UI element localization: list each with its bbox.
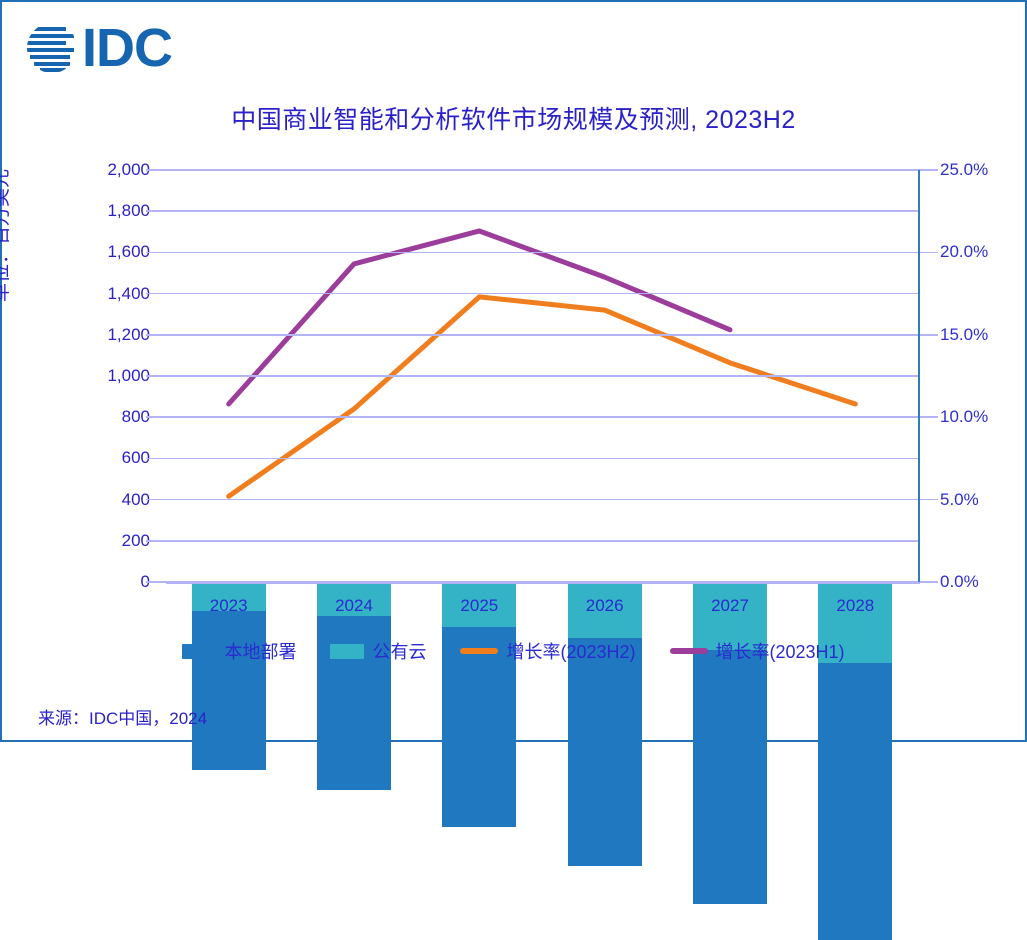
legend-line-swatch-icon xyxy=(670,648,708,654)
bar-segment[interactable] xyxy=(818,663,892,940)
y-axis-left-tick xyxy=(146,210,166,212)
gridline xyxy=(166,293,918,295)
bar-group[interactable] xyxy=(317,374,391,582)
y-axis-right-tick-label: 10.0% xyxy=(940,407,988,427)
y-axis-left-tick-label: 1,000 xyxy=(107,366,150,386)
gridline xyxy=(166,375,918,377)
gridline xyxy=(166,252,918,254)
y-axis-left-tick xyxy=(146,581,166,583)
legend-item[interactable]: 本地部署 xyxy=(182,638,296,664)
bar-group[interactable] xyxy=(693,260,767,582)
legend-bar-swatch-icon xyxy=(182,644,216,659)
idc-globe-icon xyxy=(24,20,80,76)
y-axis-title: 单位：百万美元 xyxy=(0,169,13,302)
bar-group[interactable] xyxy=(818,224,892,582)
y-axis-right-tick xyxy=(918,416,938,418)
y-axis-left-tick-label: 1,200 xyxy=(107,325,150,345)
legend-bar-swatch-icon xyxy=(330,644,364,659)
x-axis-tick-label: 2023 xyxy=(210,596,248,616)
y-axis-right-tick xyxy=(918,581,938,583)
x-axis-line xyxy=(166,582,920,584)
gridline xyxy=(166,499,918,501)
y-axis-right-tick xyxy=(918,252,938,254)
idc-wordmark: IDC xyxy=(82,20,172,76)
gridline xyxy=(166,210,918,212)
y-axis-right-tick xyxy=(918,169,938,171)
x-axis-tick-label: 2024 xyxy=(335,596,373,616)
y-axis-left-tick xyxy=(146,458,166,460)
bar-segment[interactable] xyxy=(693,650,767,904)
y-axis-right-tick-label: 0.0% xyxy=(940,572,979,592)
bar-segment[interactable] xyxy=(192,611,266,771)
legend-line-swatch-icon xyxy=(460,648,498,654)
right-axis-line xyxy=(918,170,920,584)
y-axis-left-tick xyxy=(146,540,166,542)
y-axis-left-tick-label: 1,800 xyxy=(107,201,150,221)
y-axis-left-tick xyxy=(146,416,166,418)
legend-item[interactable]: 增长率(2023H1) xyxy=(670,638,845,664)
chart-legend: 本地部署公有云增长率(2023H2)增长率(2023H1) xyxy=(2,638,1025,664)
y-axis-right-tick-label: 20.0% xyxy=(940,242,988,262)
x-axis-tick-label: 2026 xyxy=(586,596,624,616)
idc-logo: IDC xyxy=(24,20,172,76)
y-axis-right-tick-label: 25.0% xyxy=(940,160,988,180)
legend-label: 公有云 xyxy=(372,638,426,664)
legend-item[interactable]: 公有云 xyxy=(330,638,426,664)
gridline xyxy=(166,416,918,418)
y-axis-left-tick xyxy=(146,334,166,336)
legend-label: 增长率(2023H2) xyxy=(506,638,635,664)
y-axis-left-tick xyxy=(146,169,166,171)
y-axis-left-tick xyxy=(146,499,166,501)
gridline xyxy=(166,334,918,336)
y-axis-right-tick xyxy=(918,334,938,336)
y-axis-left-tick-label: 1,600 xyxy=(107,242,150,262)
legend-item[interactable]: 增长率(2023H2) xyxy=(460,638,635,664)
y-axis-left-tick xyxy=(146,375,166,377)
legend-label: 增长率(2023H1) xyxy=(716,638,845,664)
gridline xyxy=(166,169,918,171)
y-axis-right-labels: 0.0%5.0%10.0%15.0%20.0%25.0% xyxy=(940,170,1024,582)
bar-group[interactable] xyxy=(568,298,642,582)
bar-group[interactable] xyxy=(192,394,266,582)
y-axis-right-tick-label: 15.0% xyxy=(940,325,988,345)
gridline xyxy=(166,540,918,542)
plot-area xyxy=(166,170,918,582)
y-axis-left-tick-label: 2,000 xyxy=(107,160,150,180)
bar-segment[interactable] xyxy=(568,638,642,867)
chart-page: IDC 中国商业智能和分析软件市场规模及预测, 2023H2 单位：百万美元 0… xyxy=(0,0,1027,742)
gridline xyxy=(166,458,918,460)
source-note: 来源：IDC中国，2024 xyxy=(38,704,207,729)
bar-group[interactable] xyxy=(442,337,516,582)
y-axis-right-tick xyxy=(918,499,938,501)
y-axis-right-tick-label: 5.0% xyxy=(940,490,979,510)
chart-title: 中国商业智能和分析软件市场规模及预测, 2023H2 xyxy=(2,100,1025,136)
x-axis-tick-label: 2027 xyxy=(711,596,749,616)
y-axis-left-tick xyxy=(146,252,166,254)
y-axis-left-labels: 02004006008001,0001,2001,4001,6001,8002,… xyxy=(90,170,150,582)
y-axis-left-tick-label: 1,400 xyxy=(107,284,150,304)
y-axis-left-ticks xyxy=(152,170,166,582)
x-axis-tick-label: 2028 xyxy=(836,596,874,616)
legend-label: 本地部署 xyxy=(224,638,296,664)
y-axis-right-ticks xyxy=(918,170,938,582)
y-axis-left-tick xyxy=(146,293,166,295)
x-axis-tick-label: 2025 xyxy=(460,596,498,616)
